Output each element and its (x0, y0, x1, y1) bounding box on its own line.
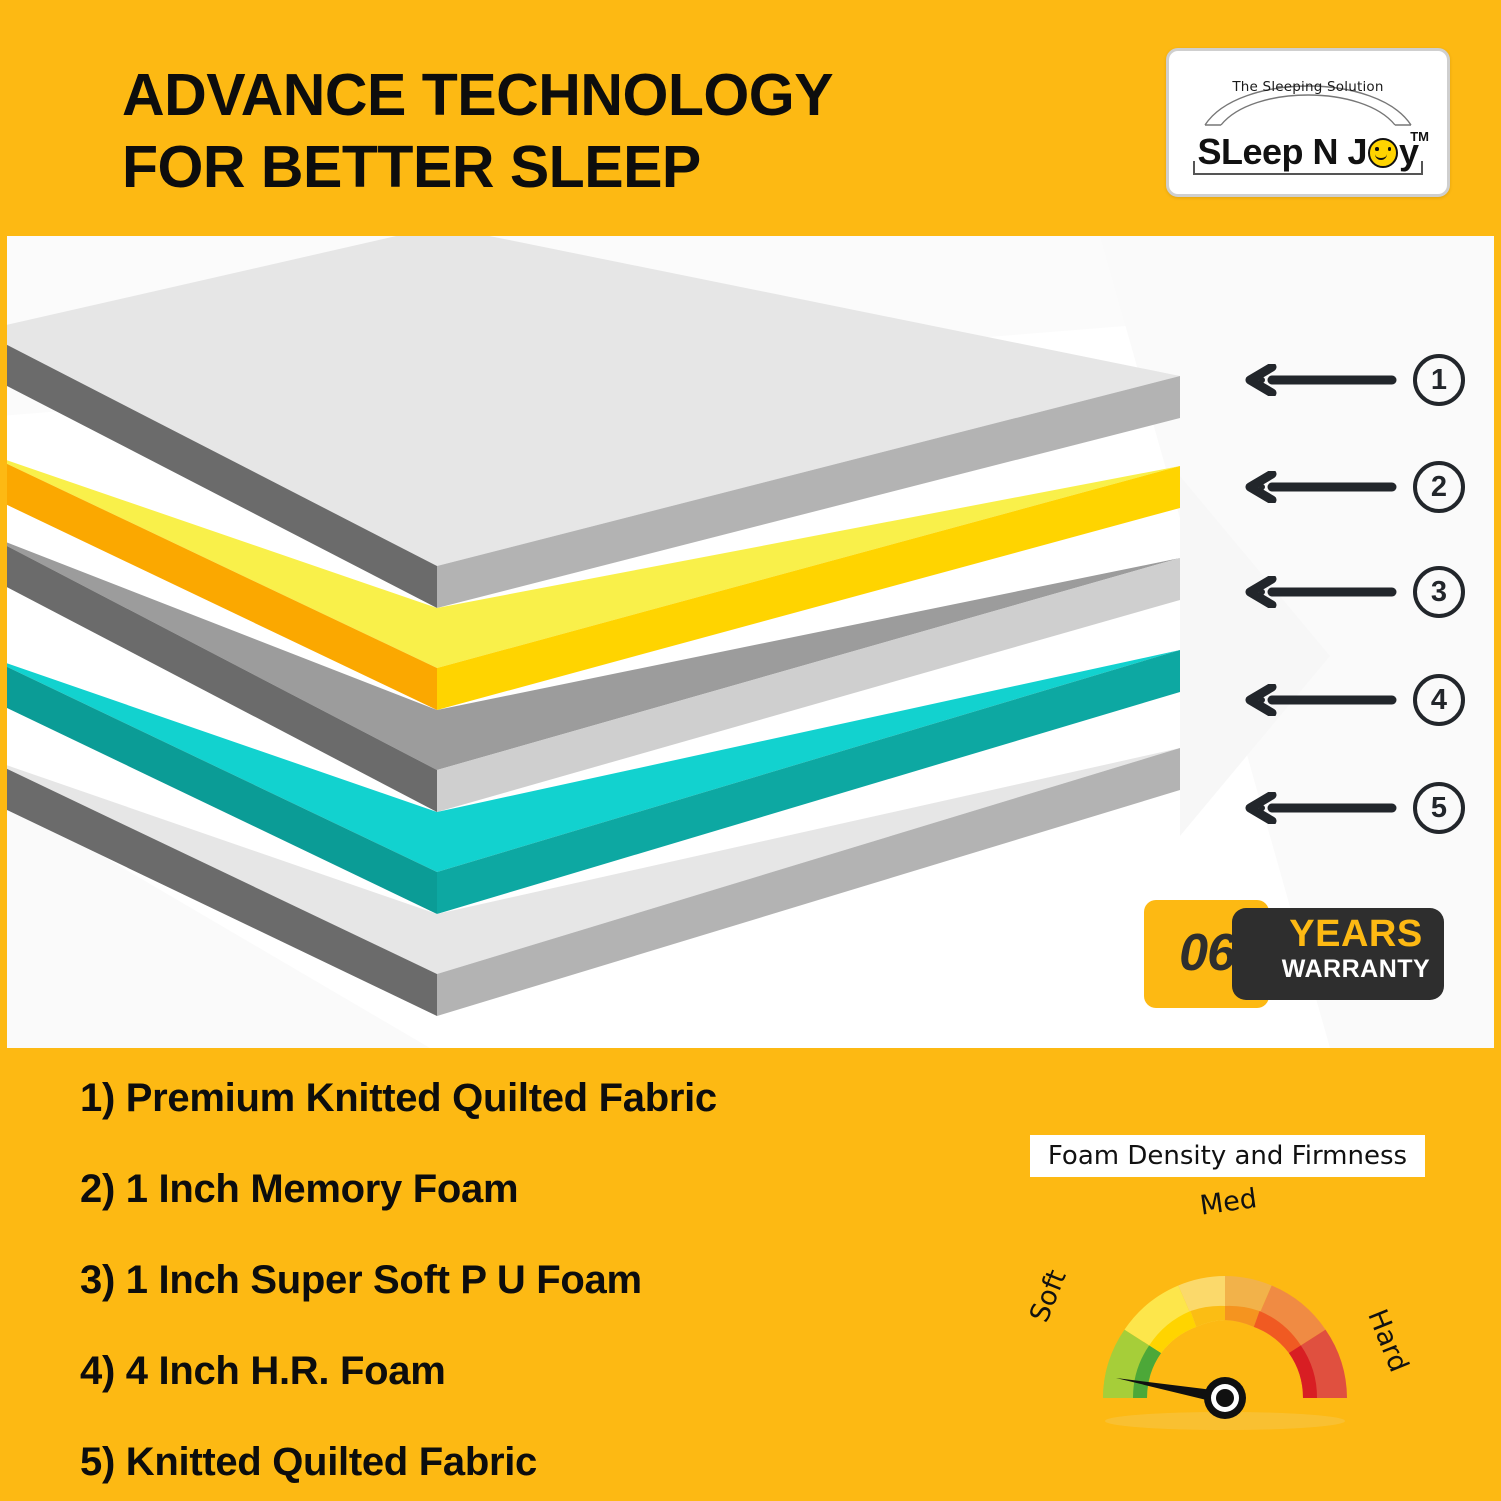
callout-number-1: 1 (1413, 354, 1465, 406)
logo-wordmark: SLeep N Jy (1169, 131, 1447, 173)
logo-underline (1193, 173, 1423, 175)
left-arrow-icon (1240, 471, 1405, 503)
logo-tagline: The Sleeping Solution (1169, 79, 1447, 95)
callout-5[interactable]: 5 (1240, 782, 1470, 834)
list-item: 3) 1 Inch Super Soft P U Foam (80, 1260, 960, 1300)
logo-arc-decoration (1169, 63, 1447, 127)
list-item: 4) 4 Inch H.R. Foam (80, 1351, 960, 1391)
left-arrow-icon (1240, 792, 1405, 824)
warranty-divider (1265, 917, 1270, 991)
logo-name-part1: SLeep N J (1197, 131, 1367, 172)
title-line-2: FOR BETTER SLEEP (122, 132, 1082, 204)
infographic-poster: ADVANCE TECHNOLOGY FOR BETTER SLEEP The … (0, 0, 1501, 1501)
list-item: 2) 1 Inch Memory Foam (80, 1169, 960, 1209)
title-line-1: ADVANCE TECHNOLOGY (122, 60, 1082, 132)
left-arrow-icon (1240, 576, 1405, 608)
warranty-badge: 06 YEARS WARRANTY (1144, 900, 1444, 1008)
gauge-title: Foam Density and Firmness (1030, 1135, 1425, 1177)
brand-logo: The Sleeping Solution SLeep N Jy TM (1166, 48, 1450, 197)
callout-1[interactable]: 1 (1240, 354, 1470, 406)
warranty-years-label: YEARS (1277, 914, 1435, 954)
callout-number-2: 2 (1413, 461, 1465, 513)
left-arrow-icon (1240, 684, 1405, 716)
frame-border-right (1494, 0, 1501, 1501)
callout-2[interactable]: 2 (1240, 461, 1470, 513)
page-title: ADVANCE TECHNOLOGY FOR BETTER SLEEP (122, 60, 1082, 204)
callout-number-3: 3 (1413, 566, 1465, 618)
callout-number-5: 5 (1413, 782, 1465, 834)
firmness-gauge: Foam Density and Firmness (1010, 1135, 1440, 1435)
callout-4[interactable]: 4 (1240, 674, 1470, 726)
logo-underline-right-tick (1421, 161, 1423, 175)
frame-border-left (0, 0, 7, 1501)
callout-number-4: 4 (1413, 674, 1465, 726)
header-banner: ADVANCE TECHNOLOGY FOR BETTER SLEEP The … (0, 0, 1501, 236)
list-item: 5) Knitted Quilted Fabric (80, 1442, 960, 1482)
warranty-years-number: 06 (1154, 922, 1260, 984)
warranty-word-label: WARRANTY (1277, 956, 1435, 982)
callout-3[interactable]: 3 (1240, 566, 1470, 618)
trademark-symbol: TM (1410, 129, 1429, 144)
left-arrow-icon (1240, 364, 1405, 396)
list-item: 1) Premium Knitted Quilted Fabric (80, 1078, 960, 1118)
gauge-dial (1010, 1183, 1440, 1433)
smiley-face-icon (1368, 138, 1398, 168)
layer-legend-list: 1) Premium Knitted Quilted Fabric 2) 1 I… (80, 1078, 960, 1501)
